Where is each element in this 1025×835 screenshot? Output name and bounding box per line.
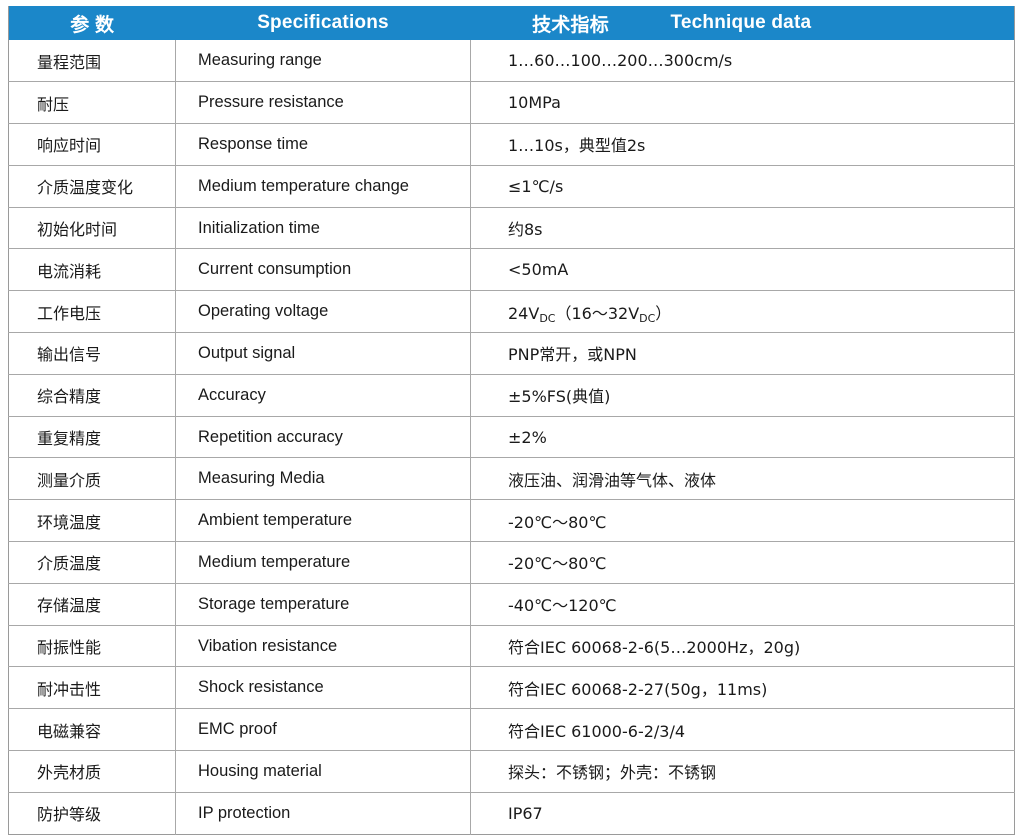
column-header-value-group: 技术指标 Technique data bbox=[471, 10, 1015, 37]
parameter-name-cn: 测量介质 bbox=[9, 458, 176, 500]
parameter-name-en: Pressure resistance bbox=[176, 82, 471, 124]
table-body: 量程范围Measuring range1…60…100…200…300cm/s耐… bbox=[9, 40, 1015, 834]
parameter-name-cn: 外壳材质 bbox=[9, 751, 176, 793]
parameter-value: IP67 bbox=[471, 792, 1015, 834]
table-row: 外壳材质Housing material探头：不锈钢；外壳：不锈钢 bbox=[9, 751, 1015, 793]
parameter-name-en: Storage temperature bbox=[176, 583, 471, 625]
parameter-name-cn: 电流消耗 bbox=[9, 249, 176, 291]
table-row: 存储温度Storage temperature-40℃～120℃ bbox=[9, 583, 1015, 625]
table-row: 介质温度变化Medium temperature change≤1℃/s bbox=[9, 165, 1015, 207]
parameter-value: 1…10s，典型值2s bbox=[471, 124, 1015, 166]
table-row: 输出信号Output signalPNP常开，或NPN bbox=[9, 333, 1015, 375]
parameter-value: ≤1℃/s bbox=[471, 165, 1015, 207]
parameter-name-en: Shock resistance bbox=[176, 667, 471, 709]
parameter-name-cn: 量程范围 bbox=[9, 40, 176, 82]
parameter-name-en: Repetition accuracy bbox=[176, 416, 471, 458]
parameter-name-en: Operating voltage bbox=[176, 291, 471, 333]
table-row: 耐冲击性Shock resistance符合IEC 60068-2-27(50g… bbox=[9, 667, 1015, 709]
parameter-name-cn: 介质温度 bbox=[9, 542, 176, 584]
table-row: 重复精度Repetition accuracy±2% bbox=[9, 416, 1015, 458]
parameter-name-cn: 防护等级 bbox=[9, 792, 176, 834]
specification-table: 参 数 Specifications 技术指标 Technique data 量… bbox=[8, 6, 1015, 835]
parameter-name-cn: 电磁兼容 bbox=[9, 709, 176, 751]
parameter-name-cn: 介质温度变化 bbox=[9, 165, 176, 207]
specification-sheet: 参 数 Specifications 技术指标 Technique data 量… bbox=[0, 6, 1025, 835]
parameter-name-cn: 工作电压 bbox=[9, 291, 176, 333]
parameter-value: -20℃～80℃ bbox=[471, 500, 1015, 542]
parameter-name-en: Measuring Media bbox=[176, 458, 471, 500]
parameter-name-en: Current consumption bbox=[176, 249, 471, 291]
table-row: 工作电压Operating voltage24VDC（16～32VDC） bbox=[9, 291, 1015, 333]
parameter-name-en: Ambient temperature bbox=[176, 500, 471, 542]
parameter-value: 探头：不锈钢；外壳：不锈钢 bbox=[471, 751, 1015, 793]
parameter-name-cn: 综合精度 bbox=[9, 374, 176, 416]
parameter-name-en: Medium temperature bbox=[176, 542, 471, 584]
parameter-name-en: EMC proof bbox=[176, 709, 471, 751]
parameter-name-en: Measuring range bbox=[176, 40, 471, 82]
parameter-name-en: Housing material bbox=[176, 751, 471, 793]
parameter-name-en: Response time bbox=[176, 124, 471, 166]
table-row: 综合精度Accuracy±5%FS(典值) bbox=[9, 374, 1015, 416]
parameter-name-cn: 存储温度 bbox=[9, 583, 176, 625]
parameter-value: -20℃～80℃ bbox=[471, 542, 1015, 584]
parameter-name-cn: 输出信号 bbox=[9, 333, 176, 375]
table-header: 参 数 Specifications 技术指标 Technique data bbox=[9, 6, 1015, 40]
table-row: 环境温度Ambient temperature-20℃～80℃ bbox=[9, 500, 1015, 542]
table-row: 初始化时间Initialization time约8s bbox=[9, 207, 1015, 249]
parameter-name-cn: 耐冲击性 bbox=[9, 667, 176, 709]
parameter-name-cn: 耐振性能 bbox=[9, 625, 176, 667]
table-row: 耐压Pressure resistance10MPa bbox=[9, 82, 1015, 124]
table-row: 耐振性能Vibation resistance符合IEC 60068-2-6(5… bbox=[9, 625, 1015, 667]
column-header-value-en: Technique data bbox=[671, 12, 812, 34]
table-row: 测量介质Measuring Media液压油、润滑油等气体、液体 bbox=[9, 458, 1015, 500]
column-header-specifications-en: Specifications bbox=[176, 6, 471, 40]
table-row: 响应时间Response time1…10s，典型值2s bbox=[9, 124, 1015, 166]
parameter-name-en: Accuracy bbox=[176, 374, 471, 416]
parameter-value: 约8s bbox=[471, 207, 1015, 249]
parameter-value: PNP常开，或NPN bbox=[471, 333, 1015, 375]
parameter-name-en: Initialization time bbox=[176, 207, 471, 249]
parameter-name-cn: 响应时间 bbox=[9, 124, 176, 166]
parameter-name-en: Output signal bbox=[176, 333, 471, 375]
table-row: 介质温度Medium temperature-20℃～80℃ bbox=[9, 542, 1015, 584]
parameter-value: 液压油、润滑油等气体、液体 bbox=[471, 458, 1015, 500]
parameter-value: <50mA bbox=[471, 249, 1015, 291]
parameter-value: ±5%FS(典值) bbox=[471, 374, 1015, 416]
parameter-value: 符合IEC 60068-2-6(5…2000Hz，20g) bbox=[471, 625, 1015, 667]
parameter-name-cn: 环境温度 bbox=[9, 500, 176, 542]
parameter-value: 符合IEC 61000-6-2/3/4 bbox=[471, 709, 1015, 751]
parameter-name-cn: 初始化时间 bbox=[9, 207, 176, 249]
parameter-name-en: Vibation resistance bbox=[176, 625, 471, 667]
parameter-name-cn: 耐压 bbox=[9, 82, 176, 124]
parameter-value: ±2% bbox=[471, 416, 1015, 458]
parameter-value: -40℃～120℃ bbox=[471, 583, 1015, 625]
parameter-name-en: IP protection bbox=[176, 792, 471, 834]
parameter-value: 10MPa bbox=[471, 82, 1015, 124]
column-header-parameter-cn: 参 数 bbox=[9, 6, 176, 40]
table-row: 电磁兼容EMC proof符合IEC 61000-6-2/3/4 bbox=[9, 709, 1015, 751]
table-row: 防护等级IP protectionIP67 bbox=[9, 792, 1015, 834]
table-row: 电流消耗Current consumption<50mA bbox=[9, 249, 1015, 291]
column-header-value-cn: 技术指标 bbox=[471, 10, 671, 37]
parameter-value: 符合IEC 60068-2-27(50g，11ms) bbox=[471, 667, 1015, 709]
parameter-name-cn: 重复精度 bbox=[9, 416, 176, 458]
column-header-technique-data: 技术指标 Technique data bbox=[471, 6, 1015, 40]
parameter-name-en: Medium temperature change bbox=[176, 165, 471, 207]
table-header-row: 参 数 Specifications 技术指标 Technique data bbox=[9, 6, 1015, 40]
parameter-value: 24VDC（16～32VDC） bbox=[471, 291, 1015, 333]
table-row: 量程范围Measuring range1…60…100…200…300cm/s bbox=[9, 40, 1015, 82]
parameter-value: 1…60…100…200…300cm/s bbox=[471, 40, 1015, 82]
